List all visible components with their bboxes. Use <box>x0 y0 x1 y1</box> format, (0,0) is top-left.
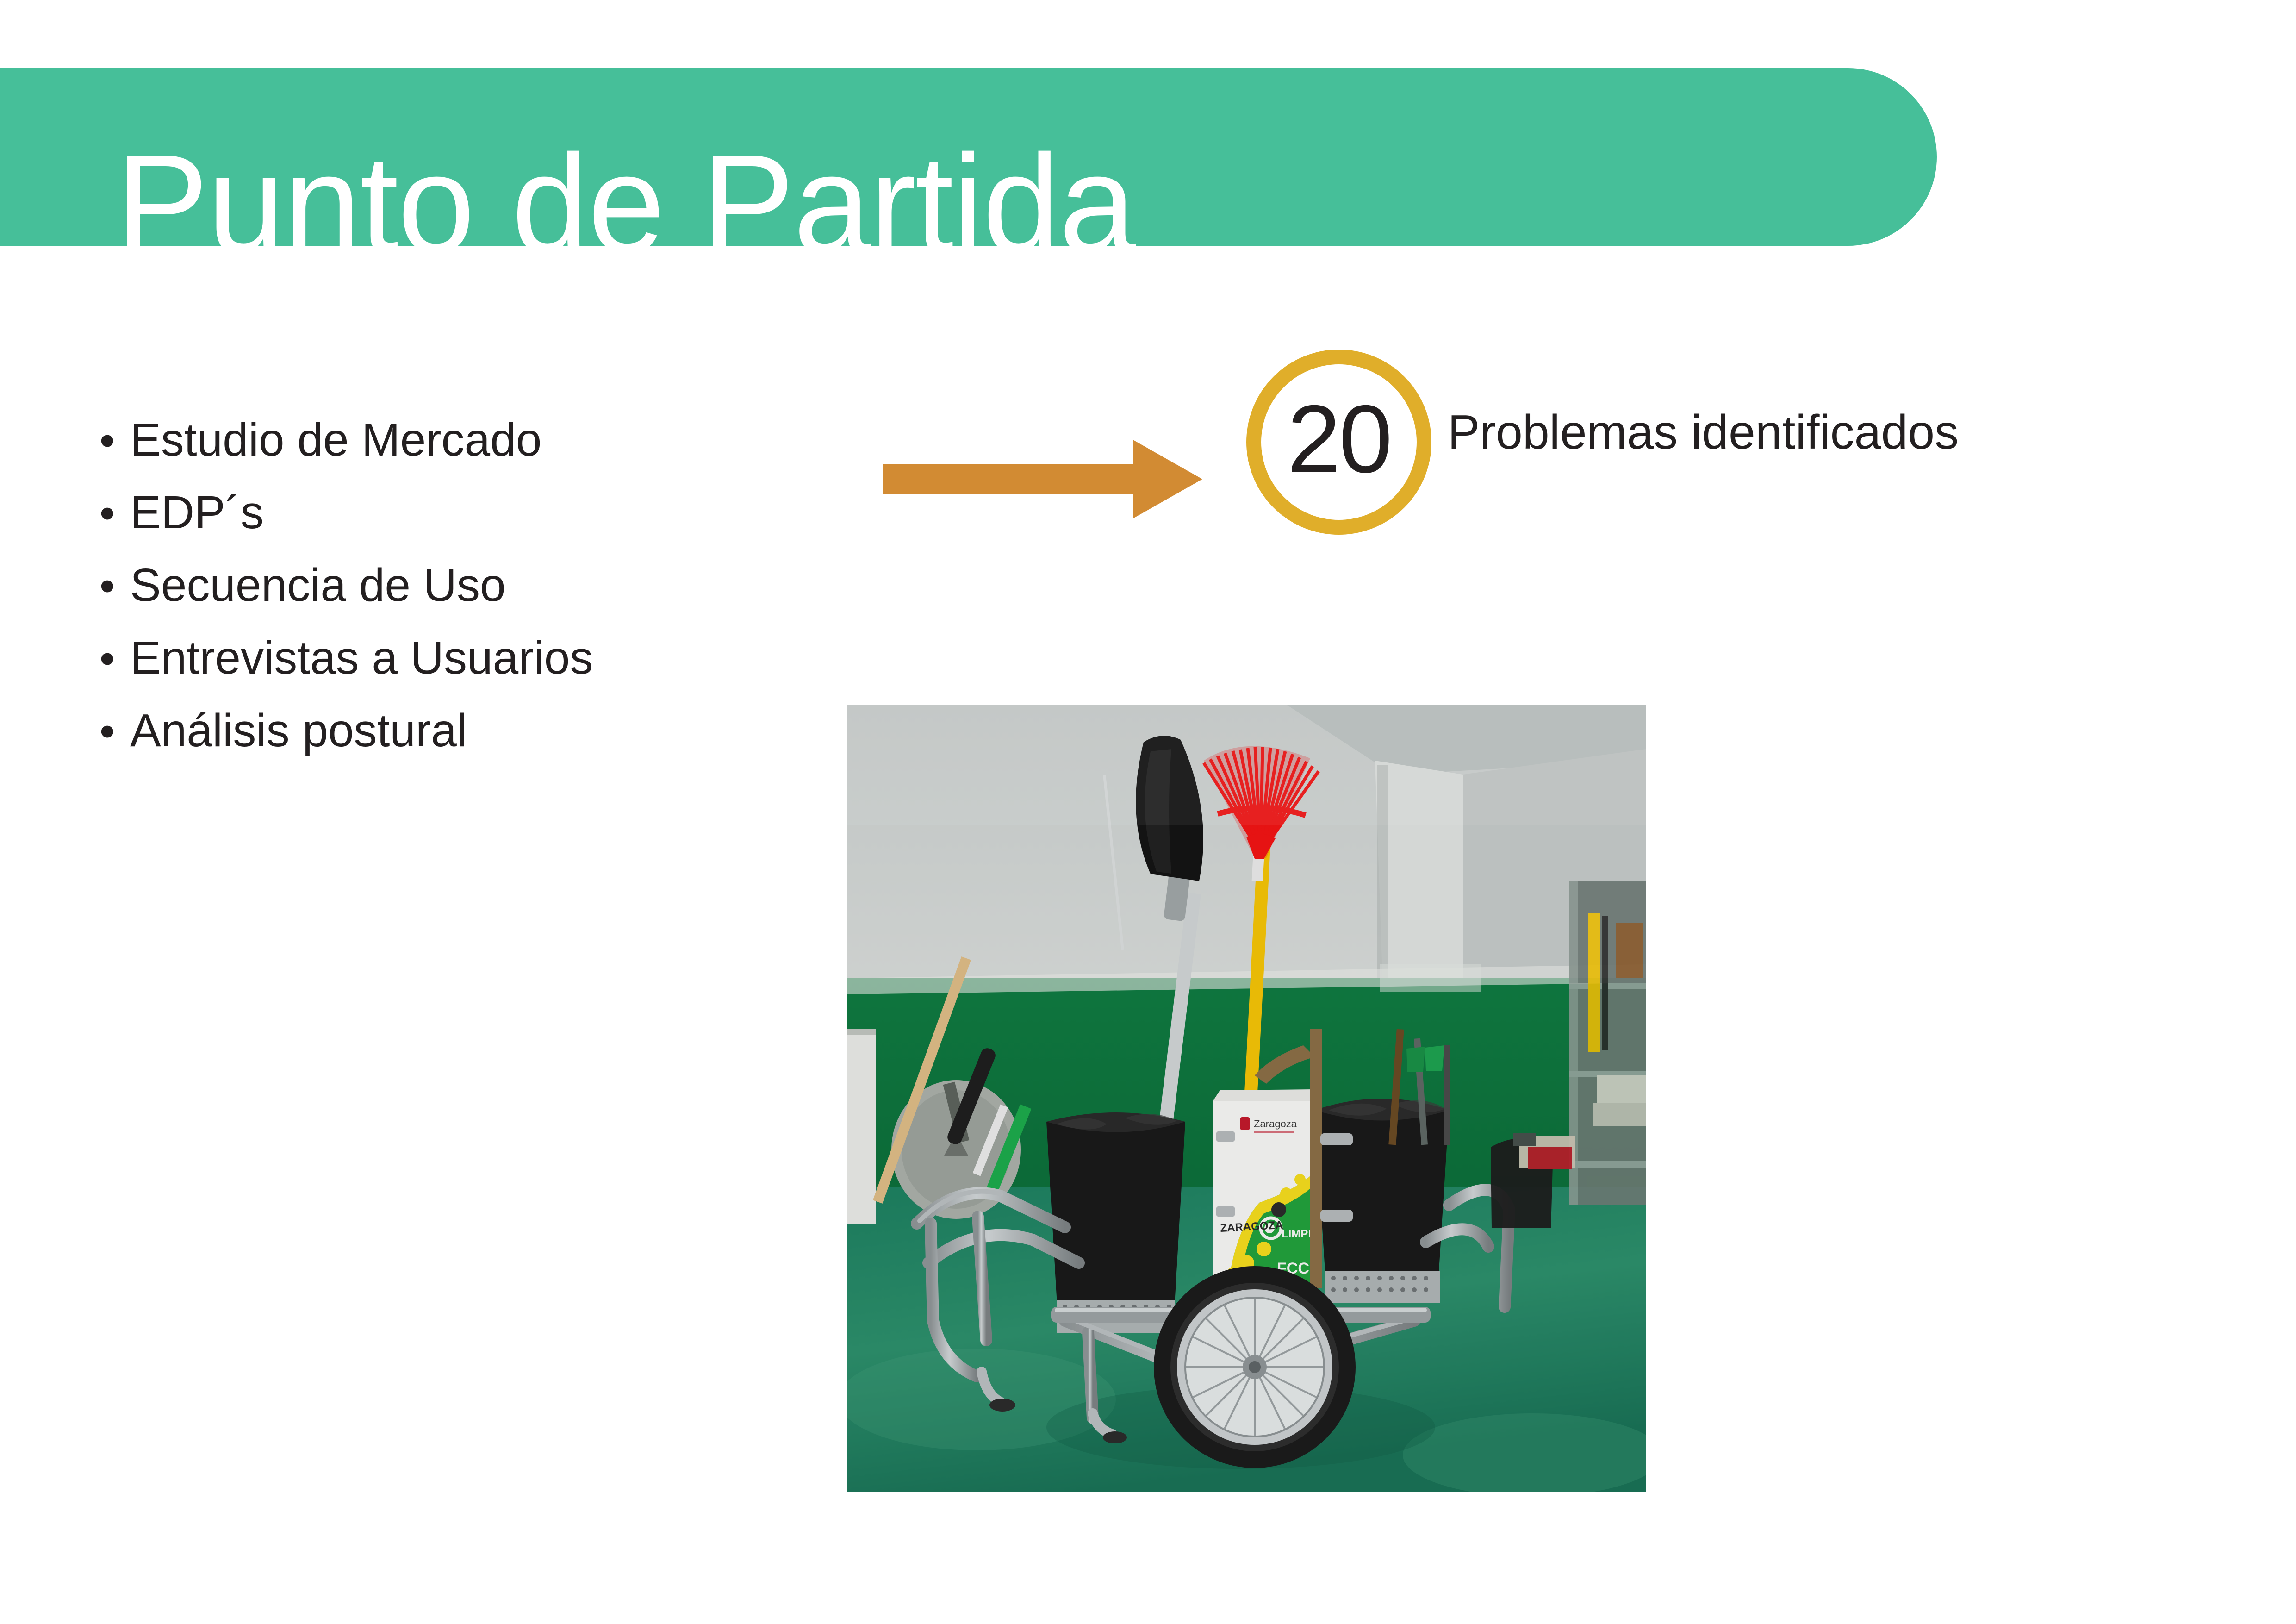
page-title: Punto de Partida <box>116 134 1135 246</box>
list-item: • EDP´s <box>100 489 794 562</box>
problem-count-badge: 20 <box>1246 350 1431 535</box>
problem-count-value: 20 <box>1287 391 1390 487</box>
cleaning-cart-photo: Zaragoza ZARAGOZA LIMPIA FCC <box>847 705 1646 1492</box>
bullet-marker-icon: • <box>100 709 121 754</box>
list-item: • Estudio de Mercado <box>100 417 794 489</box>
list-item-label: Entrevistas a Usuarios <box>121 635 593 681</box>
list-item-label: Estudio de Mercado <box>121 417 541 463</box>
list-item-label: Análisis postural <box>121 707 467 754</box>
bullet-marker-icon: • <box>100 637 121 681</box>
list-item-label: Secuencia de Uso <box>121 562 506 608</box>
right-arrow-icon <box>883 435 1202 523</box>
slide-root: Punto de Partida • Estudio de Mercado • … <box>0 0 2296 1624</box>
bullet-marker-icon: • <box>100 491 121 536</box>
list-item: • Secuencia de Uso <box>100 562 794 635</box>
list-item: • Análisis postural <box>100 707 794 780</box>
title-banner: Punto de Partida <box>0 68 1937 246</box>
list-item-label: EDP´s <box>121 489 264 536</box>
bullet-list: • Estudio de Mercado • EDP´s • Secuencia… <box>100 417 794 780</box>
bullet-marker-icon: • <box>100 564 121 608</box>
problem-count-caption: Problemas identificados <box>1448 408 1959 456</box>
bullet-marker-icon: • <box>100 418 121 463</box>
list-item: • Entrevistas a Usuarios <box>100 635 794 707</box>
